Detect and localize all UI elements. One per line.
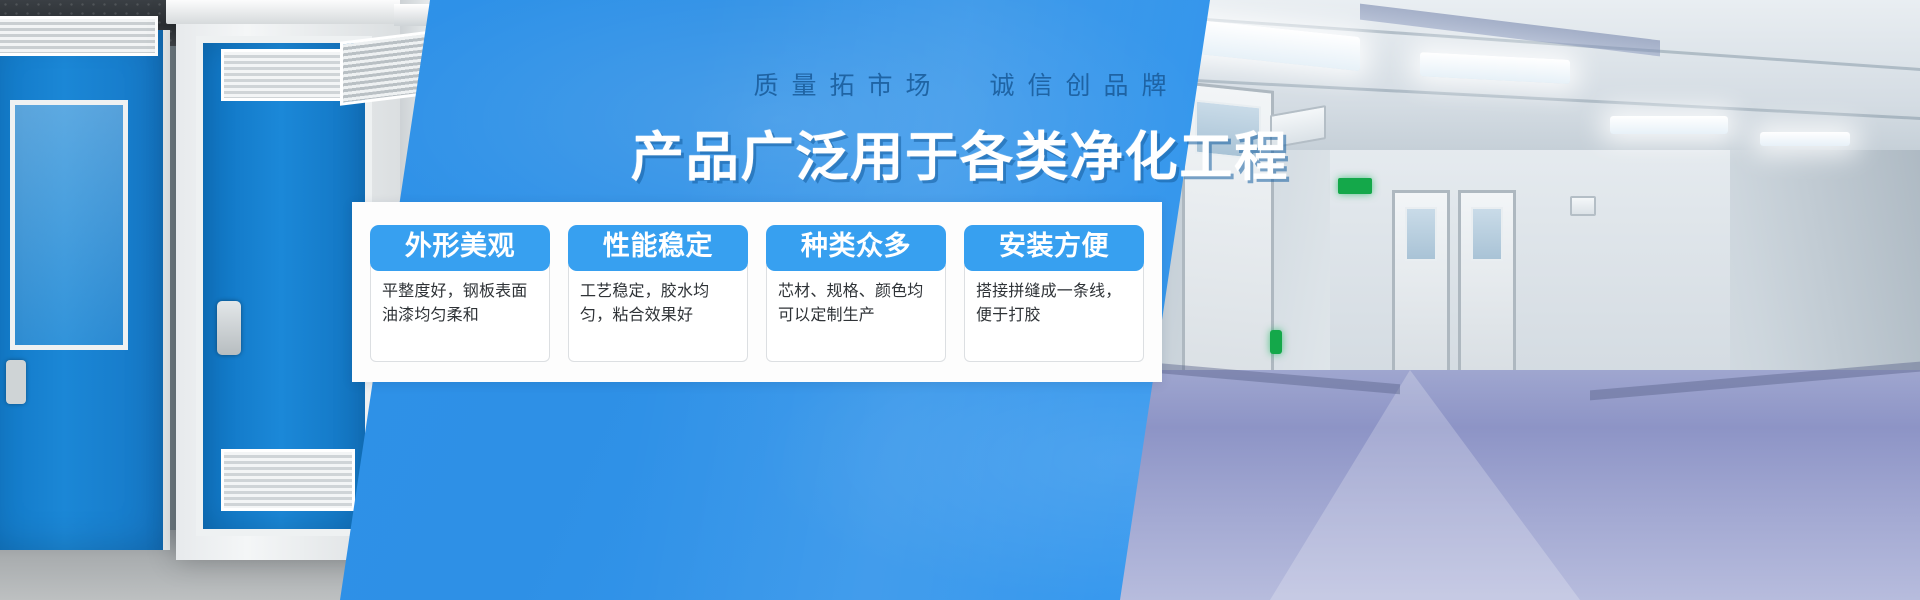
cabin-roof	[166, 0, 422, 24]
feature-card-title: 外形美观	[370, 225, 550, 271]
door-louver-top-icon	[221, 49, 355, 101]
feature-cards-list: 外形美观 平整度好，钢板表面油漆均匀柔和 性能稳定 工艺稳定，胶水均匀，粘合效果…	[352, 202, 1162, 382]
door-handle-icon	[217, 301, 241, 355]
door-louver-bottom-icon	[221, 449, 355, 511]
exit-sign-icon	[1338, 178, 1372, 194]
feature-card-body: 平整度好，钢板表面油漆均匀柔和	[370, 265, 550, 362]
feature-card[interactable]: 性能稳定 工艺稳定，胶水均匀，粘合效果好	[568, 225, 748, 362]
corridor-door-mid	[1392, 190, 1450, 380]
ceiling-light	[1760, 132, 1850, 146]
feature-card-body: 芯材、规格、颜色均可以定制生产	[766, 265, 946, 362]
door-window	[1471, 207, 1503, 261]
cabin-handle-icon	[6, 360, 26, 404]
feature-card[interactable]: 安装方便 搭接拼缝成一条线，便于打胶	[964, 225, 1144, 362]
feature-card-title: 安装方便	[964, 225, 1144, 271]
feature-card-title: 种类众多	[766, 225, 946, 271]
feature-card-body: 工艺稳定，胶水均匀，粘合效果好	[568, 265, 748, 362]
floor-light-reflection	[1270, 370, 1580, 600]
safety-marker-icon	[1270, 330, 1282, 354]
cabin-window	[10, 100, 128, 350]
feature-card[interactable]: 外形美观 平整度好，钢板表面油漆均匀柔和	[370, 225, 550, 362]
cabin-door	[196, 36, 372, 536]
feature-card-title: 性能稳定	[568, 225, 748, 271]
door-window	[1195, 100, 1261, 161]
feature-cards-panel: 外形美观 平整度好，钢板表面油漆均匀柔和 性能稳定 工艺稳定，胶水均匀，粘合效果…	[352, 202, 1162, 382]
wall-sign	[1570, 196, 1596, 216]
feature-card[interactable]: 种类众多 芯材、规格、颜色均可以定制生产	[766, 225, 946, 362]
door-window	[1405, 207, 1437, 261]
promo-banner: 质量拓市场诚信创品牌 产品广泛用于各类净化工程 外形美观 平整度好，钢板表面油漆…	[0, 0, 1920, 600]
right-cleanroom-photo	[1120, 0, 1920, 600]
corridor-door-mid2	[1458, 190, 1516, 380]
portable-cabin-left	[0, 30, 170, 550]
feature-card-body: 搭接拼缝成一条线，便于打胶	[964, 265, 1144, 362]
cabin-vent-icon	[0, 16, 158, 56]
ceiling-light	[1610, 116, 1728, 134]
